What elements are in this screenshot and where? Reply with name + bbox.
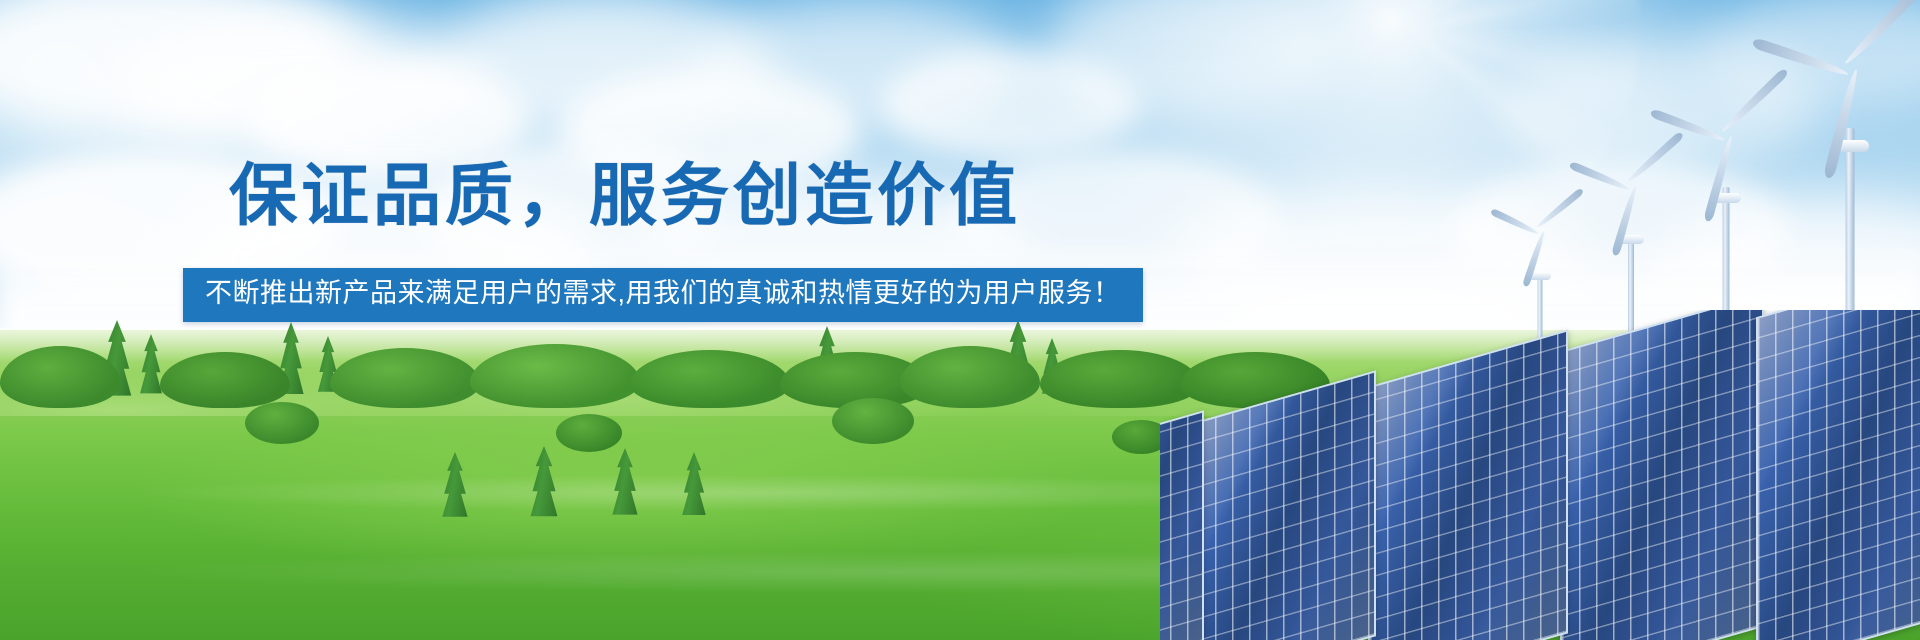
solar-panel: [1756, 310, 1920, 640]
banner-copy: 保证品质，服务创造价值 不断推出新产品来满足用户的需求,用我们的真诚和热情更好的…: [0, 0, 1250, 400]
subtitle-bar: 不断推出新产品来满足用户的需求,用我们的真诚和热情更好的为用户服务！: [183, 268, 1143, 322]
solar-panel: [1160, 410, 1204, 640]
hero-banner: 保证品质，服务创造价值 不断推出新产品来满足用户的需求,用我们的真诚和热情更好的…: [0, 0, 1920, 640]
solar-panel: [1196, 370, 1376, 640]
solar-panel-array: [1160, 310, 1920, 640]
solar-panel: [1368, 329, 1568, 640]
page-title: 保证品质，服务创造价值: [0, 162, 1250, 230]
solar-panel: [1560, 310, 1764, 640]
banner-subtitle: 不断推出新产品来满足用户的需求,用我们的真诚和热情更好的为用户服务！: [205, 279, 1121, 309]
